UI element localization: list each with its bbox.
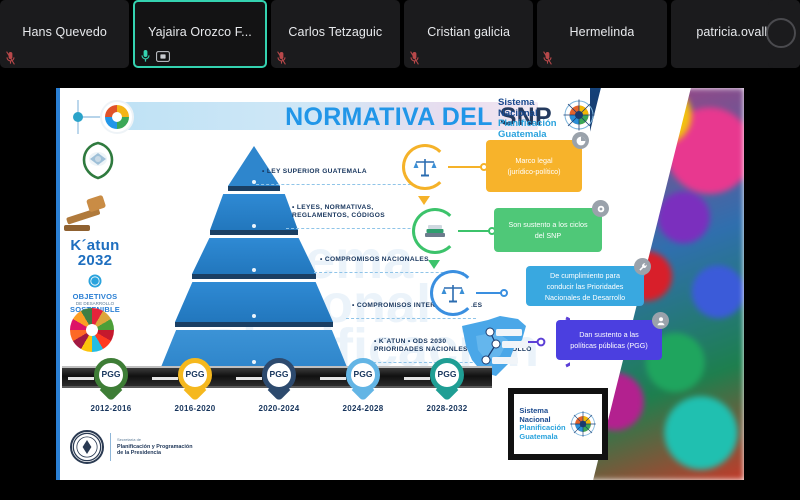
road-dash bbox=[152, 377, 178, 380]
participant-tile-2[interactable]: Carlos Tetzaguic bbox=[271, 0, 400, 68]
pyramid-label-1: • LEY SUPERIOR GUATEMALA bbox=[262, 168, 422, 176]
scales-of-justice-icon-1 bbox=[402, 144, 448, 190]
callout-box-4[interactable]: Dan sustento a las políticas públicas (P… bbox=[556, 320, 662, 360]
segeplan-footer-logo: Secretaría de Planificación y Programaci… bbox=[70, 426, 250, 468]
ods-title: OBJETIVOS bbox=[64, 293, 126, 301]
timeline-pin-0[interactable]: PGG bbox=[94, 358, 128, 398]
participant-name: Carlos Tetzaguic bbox=[288, 25, 382, 39]
segeplan-line-3: de la Presidencia bbox=[117, 450, 193, 457]
tile-badges bbox=[141, 49, 170, 63]
slide-title-main: NORMATIVA DEL bbox=[285, 103, 493, 132]
pin-label-pgg: PGG bbox=[346, 369, 380, 379]
framed-logo-text: Sistema Nacional Planificación Guatemala bbox=[519, 407, 565, 441]
documents-stack-icon bbox=[412, 208, 458, 254]
road-dash bbox=[404, 377, 430, 380]
framed-line-4: Guatemala bbox=[519, 433, 565, 442]
katun-line-2: 2032 bbox=[62, 253, 128, 268]
participant-name: Cristian galicia bbox=[427, 25, 510, 39]
katun-line-1: K´atun bbox=[62, 238, 128, 253]
road-dash bbox=[236, 377, 262, 380]
brand-line-1: Sistema bbox=[498, 98, 556, 109]
timeline-period-4: 2028-2032 bbox=[416, 404, 478, 413]
framed-snp-logo: Sistema Nacional Planificación Guatemala bbox=[508, 388, 608, 460]
slide-title: NORMATIVA DEL SNP bbox=[152, 102, 552, 132]
connector-2 bbox=[458, 230, 492, 232]
snp-globe-icon bbox=[562, 98, 596, 132]
segeplan-line-2: Planificación y Programación bbox=[117, 444, 193, 451]
road-dash bbox=[320, 377, 346, 380]
sdg-color-wheel-icon bbox=[70, 308, 114, 352]
connector-1 bbox=[448, 166, 484, 168]
guatemala-seal-icon bbox=[70, 430, 104, 464]
timeline-pin-1[interactable]: PGG bbox=[178, 358, 212, 398]
callout-text-4: Dan sustento a las políticas públicas (P… bbox=[570, 329, 648, 351]
participant-tile-3[interactable]: Cristian galicia bbox=[404, 0, 533, 68]
snp-globe-icon bbox=[569, 410, 597, 438]
pin-label-pgg: PGG bbox=[178, 369, 212, 379]
arrow-down-1 bbox=[418, 196, 430, 205]
gavel-icon bbox=[62, 192, 116, 236]
segeplan-line-1: Secretaría de bbox=[117, 437, 193, 444]
timeline-pin-2[interactable]: PGG bbox=[262, 358, 296, 398]
mic-on-icon bbox=[141, 49, 150, 63]
participant-tile-1-active-speaker[interactable]: Yajaira Orozco F... bbox=[133, 0, 266, 68]
participant-name: Yajaira Orozco F... bbox=[148, 25, 252, 39]
tile-badges bbox=[543, 51, 552, 65]
pin-label-pgg: PGG bbox=[94, 369, 128, 379]
callout-box-1[interactable]: Marco legal (jurídico-político) bbox=[486, 140, 582, 192]
guatemala-coat-of-arms-icon bbox=[78, 140, 118, 180]
screen-root: Hans Quevedo Yajaira Orozco F... Carlos … bbox=[0, 0, 800, 500]
pyramid-level-2 bbox=[210, 194, 298, 235]
timeline-period-0: 2012-2016 bbox=[80, 404, 142, 413]
tile-badges bbox=[410, 51, 419, 65]
participant-name: Hermelinda bbox=[570, 25, 635, 39]
callout-text-2: Son sustento a los ciclos del SNP bbox=[508, 219, 587, 241]
timeline-period-1: 2016-2020 bbox=[164, 404, 226, 413]
pin-label-pgg: PGG bbox=[430, 369, 464, 379]
timeline-period-3: 2024-2028 bbox=[332, 404, 394, 413]
color-wheel-icon bbox=[105, 105, 129, 129]
arrow-down-2 bbox=[428, 260, 440, 269]
timeline-pin-4[interactable]: PGG bbox=[430, 358, 464, 398]
pyramid-node-5 bbox=[252, 360, 256, 364]
divider bbox=[110, 433, 111, 461]
connector-3 bbox=[476, 292, 504, 294]
pyramid-level-4 bbox=[175, 282, 333, 327]
segeplan-text: Secretaría de Planificación y Programaci… bbox=[117, 437, 193, 457]
participant-tile-0[interactable]: Hans Quevedo bbox=[0, 0, 129, 68]
participant-tile-4[interactable]: Hermelinda bbox=[537, 0, 666, 68]
participant-tile-5[interactable]: patricia.ovalle bbox=[671, 0, 800, 68]
pin-label-pgg: PGG bbox=[262, 369, 296, 379]
brand-line-3: Planificación bbox=[498, 119, 556, 130]
mic-muted-icon bbox=[6, 51, 15, 65]
callout-box-2[interactable]: Son sustento a los ciclos del SNP bbox=[494, 208, 602, 252]
participant-name: patricia.ovalle bbox=[696, 25, 774, 39]
avatar-placeholder-icon bbox=[766, 18, 796, 48]
slide-left-rail bbox=[56, 88, 60, 480]
pyramid-level-3 bbox=[192, 238, 316, 279]
screen-share-icon bbox=[156, 51, 170, 62]
timeline-pin-3[interactable]: PGG bbox=[346, 358, 380, 398]
callout-text-1: Marco legal (jurídico-político) bbox=[507, 155, 560, 177]
un-emblem-icon bbox=[88, 274, 102, 288]
framed-logo-inner: Sistema Nacional Planificación Guatemala bbox=[519, 407, 596, 441]
mic-muted-icon bbox=[277, 51, 286, 65]
timeline-period-2: 2020-2024 bbox=[248, 404, 310, 413]
dash-line-1 bbox=[256, 184, 416, 185]
pyramid-label-3: • COMPROMISOS NACIONALES bbox=[320, 256, 500, 264]
participant-filmstrip: Hans Quevedo Yajaira Orozco F... Carlos … bbox=[0, 0, 800, 70]
wrench-icon bbox=[634, 258, 651, 275]
participant-name: Hans Quevedo bbox=[22, 25, 107, 39]
brand-line-4: Guatemala bbox=[498, 130, 556, 141]
gear-icon bbox=[592, 200, 609, 217]
user-icon bbox=[652, 312, 669, 329]
pyramid-node-2 bbox=[252, 224, 256, 228]
snp-brand-text: Sistema Nacional Planificación Guatemala bbox=[498, 98, 556, 140]
callout-box-3[interactable]: De cumplimiento para conducir las Priori… bbox=[526, 266, 644, 306]
tile-badges bbox=[277, 51, 286, 65]
pyramid-node-3 bbox=[252, 268, 256, 272]
mic-muted-icon bbox=[410, 51, 419, 65]
mic-muted-icon bbox=[543, 51, 552, 65]
callout-text-3: De cumplimiento para conducir las Priori… bbox=[545, 270, 625, 303]
katun-label: K´atun 2032 bbox=[62, 238, 128, 268]
road-dash bbox=[68, 377, 94, 380]
participant-tile-overflow[interactable] bbox=[768, 0, 800, 68]
snp-ring-logo-icon bbox=[100, 100, 134, 134]
tile-badges bbox=[6, 51, 15, 65]
pie-chart-icon bbox=[572, 132, 589, 149]
pyramid-node-4 bbox=[252, 314, 256, 318]
shared-screen-slide[interactable]: Sistema Nacional Planificación NORMATIVA… bbox=[56, 88, 744, 480]
